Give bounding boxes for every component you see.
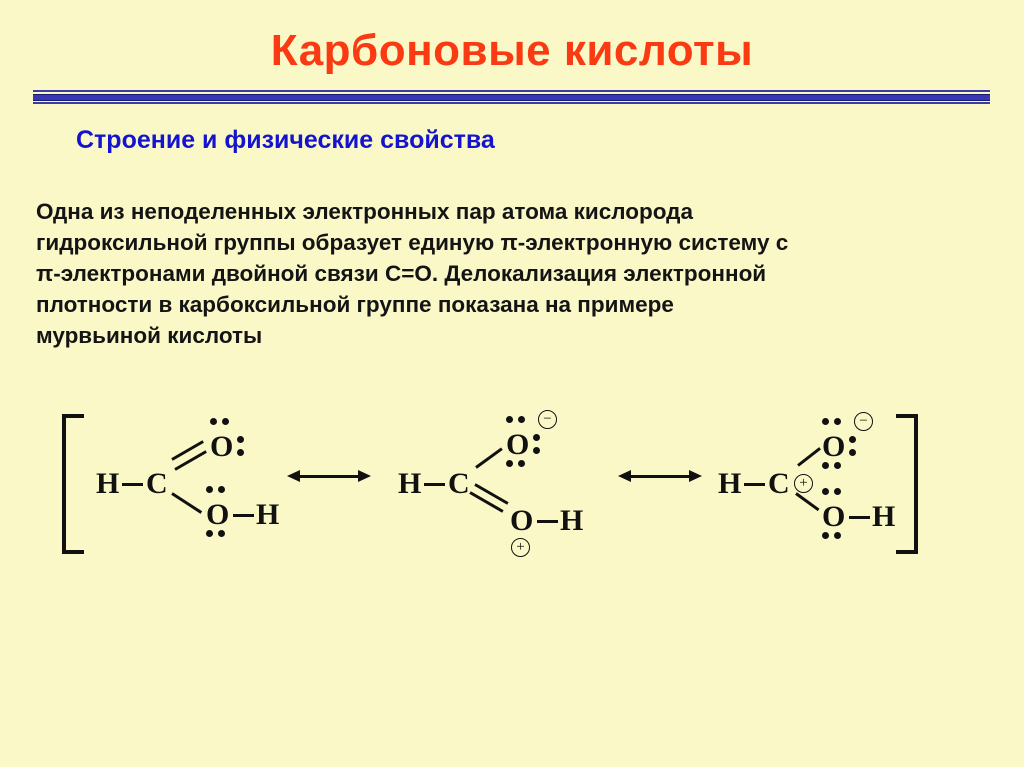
- bracket-left: [62, 414, 84, 554]
- lone-pair-bottom-o-above: [821, 488, 849, 496]
- body-paragraph: Одна из неподеленных электронных пар ато…: [36, 196, 736, 351]
- charge-positive-bottom-oxygen: +: [511, 538, 530, 557]
- arrow-shaft: [626, 475, 694, 478]
- bond-h-c: [424, 483, 445, 486]
- section-subtitle: Строение и физические свойства: [76, 126, 495, 155]
- paragraph-line: π-электронами двойной связи С=О. Делокал…: [36, 258, 736, 289]
- atom-carbon: C: [146, 469, 168, 499]
- bond-c-o-top: [475, 447, 503, 468]
- bond-o-h: [849, 516, 870, 519]
- bond-o-h: [233, 514, 254, 517]
- atom-h-right: H: [256, 500, 279, 530]
- atom-oxygen-top: O: [822, 432, 845, 462]
- lone-pair-top-o-right: [237, 436, 245, 464]
- atom-carbon: C: [448, 469, 470, 499]
- arrow-head-right: [689, 470, 702, 482]
- atom-oxygen-bottom: O: [206, 500, 229, 530]
- bond-c-o-bottom: [171, 492, 202, 514]
- lone-pair-top-o-above: [821, 418, 849, 426]
- lone-pair-top-o-above: [505, 416, 533, 424]
- bond-c-o-top-double-a: [171, 440, 204, 461]
- atom-oxygen-bottom: O: [822, 502, 845, 532]
- charge-negative-top-oxygen: −: [538, 410, 557, 429]
- resonance-arrow-icon: [287, 468, 371, 486]
- paragraph-line: мурвьиной кислоты: [36, 320, 736, 351]
- resonance-structure-neutral: H C O O H: [88, 396, 318, 576]
- atom-h-left: H: [718, 469, 741, 499]
- resonance-scheme: H C O O H: [0, 396, 1024, 576]
- atom-oxygen-top: O: [210, 432, 233, 462]
- divider-line-top: [33, 90, 990, 92]
- charge-positive-carbon: +: [794, 474, 813, 493]
- bond-c-o-top: [797, 447, 821, 467]
- paragraph-line: гидроксильной группы образует единую π-э…: [36, 227, 736, 258]
- atom-oxygen-bottom: O: [510, 506, 533, 536]
- atom-h-right: H: [872, 502, 895, 532]
- atom-oxygen-top: O: [506, 430, 529, 460]
- resonance-arrow-icon: [618, 468, 702, 486]
- lone-pair-bottom-o-above: [205, 486, 233, 494]
- arrow-shaft: [295, 475, 363, 478]
- page-title: Карбоновые кислоты: [0, 26, 1024, 76]
- lone-pair-bottom-o-below: [821, 532, 849, 540]
- atom-h-left: H: [398, 469, 421, 499]
- lone-pair-bottom-o-below: [205, 530, 233, 538]
- lone-pair-top-o-above: [209, 418, 237, 426]
- atom-carbon: C: [768, 469, 790, 499]
- atom-h-right: H: [560, 506, 583, 536]
- lone-pair-top-o-right: [849, 436, 857, 464]
- bond-h-c: [744, 483, 765, 486]
- atom-h-left: H: [96, 469, 119, 499]
- bond-h-c: [122, 483, 143, 486]
- arrow-head-right: [358, 470, 371, 482]
- resonance-structure-top-anion: H C O − O H +: [390, 396, 620, 576]
- divider-bar: [33, 94, 990, 101]
- paragraph-line: плотности в карбоксильной группе показан…: [36, 289, 736, 320]
- lone-pair-top-o-right: [533, 434, 541, 462]
- lone-pair-top-o-below: [505, 460, 533, 468]
- divider-line-bottom: [33, 102, 990, 104]
- bond-c-o-bottom: [795, 492, 819, 511]
- resonance-structure-carbocation: H C + O − O: [710, 396, 940, 576]
- lone-pair-top-o-below: [821, 462, 849, 470]
- title-divider: [33, 90, 990, 104]
- paragraph-line: Одна из неподеленных электронных пар ато…: [36, 196, 736, 227]
- bond-o-h: [537, 520, 558, 523]
- charge-negative-top-oxygen: −: [854, 412, 873, 431]
- bond-c-o-bottom-double-a: [469, 491, 503, 513]
- bond-c-o-bottom-double-b: [474, 483, 508, 505]
